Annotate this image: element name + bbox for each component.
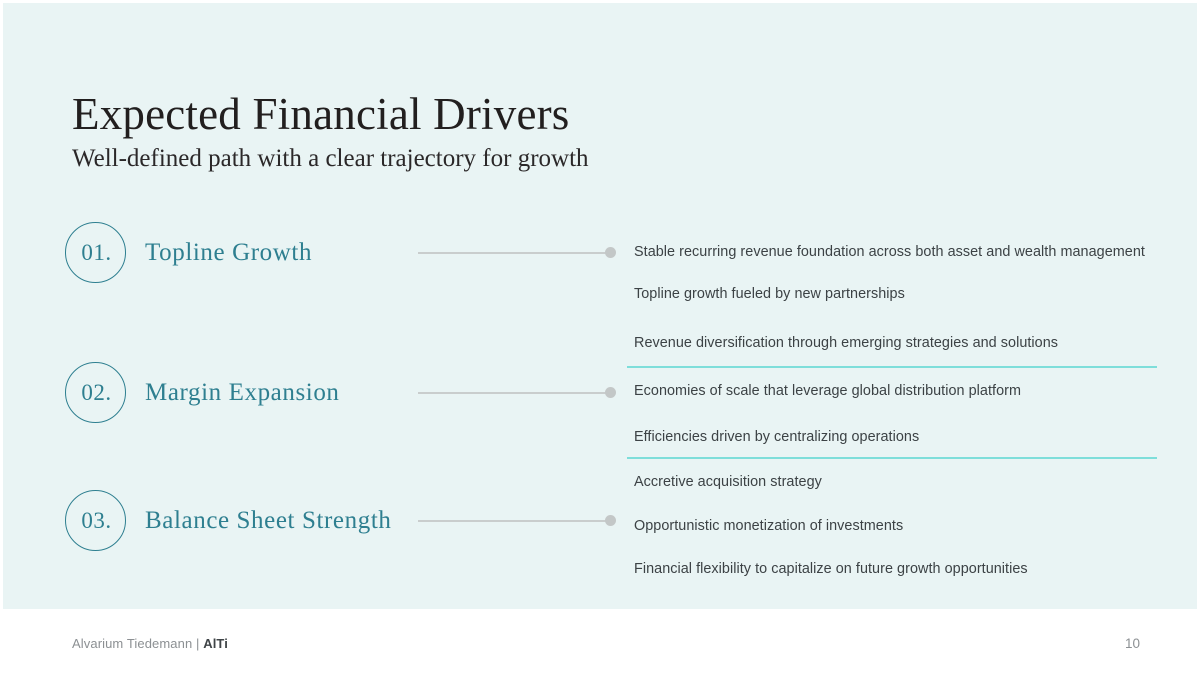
driver-number-label-3: 03. [79, 509, 111, 532]
bullet-item: Revenue diversification through emerging… [634, 334, 1058, 353]
driver-title-1: Topline Growth [145, 238, 312, 268]
bullet-item: Topline growth fueled by new partnership… [634, 285, 905, 304]
slide-footer: Alvarium Tiedemann | AlTi 10 [0, 609, 1200, 675]
driver-title-2: Margin Expansion [145, 378, 340, 408]
connector-dot-3 [605, 515, 616, 526]
driver-number-circle-3: 03. [65, 490, 126, 551]
driver-number-label-1: 01. [79, 241, 111, 264]
bullet-item: Opportunistic monetization of investment… [634, 517, 903, 536]
group-divider-1 [627, 366, 1157, 368]
footer-brand: Alvarium Tiedemann | AlTi [72, 636, 228, 651]
driver-number-circle-2: 02. [65, 362, 126, 423]
connector-dot-2 [605, 387, 616, 398]
bullet-item: Stable recurring revenue foundation acro… [634, 243, 1145, 262]
slide: Expected Financial Drivers Well-defined … [0, 0, 1200, 675]
group-divider-2 [627, 457, 1157, 459]
connector-line-3 [418, 520, 610, 522]
page-title: Expected Financial Drivers [72, 88, 972, 140]
driver-title-3: Balance Sheet Strength [145, 506, 391, 536]
driver-row-3: 03. Balance Sheet Strength [0, 490, 1200, 560]
footer-page-number: 10 [1125, 636, 1140, 651]
bullet-item: Economies of scale that leverage global … [634, 382, 1021, 401]
connector-line-1 [418, 252, 610, 254]
footer-brand-prefix: Alvarium Tiedemann | [72, 636, 203, 651]
connector-line-2 [418, 392, 610, 394]
title-block: Expected Financial Drivers Well-defined … [72, 88, 972, 175]
bullet-item: Financial flexibility to capitalize on f… [634, 560, 1028, 579]
bullet-item: Efficiencies driven by centralizing oper… [634, 428, 919, 447]
page-subtitle: Well-defined path with a clear trajector… [72, 143, 972, 175]
footer-brand-mark: AlTi [203, 636, 228, 651]
driver-number-label-2: 02. [79, 381, 111, 404]
bullet-item: Accretive acquisition strategy [634, 473, 822, 492]
connector-dot-1 [605, 247, 616, 258]
driver-number-circle-1: 01. [65, 222, 126, 283]
